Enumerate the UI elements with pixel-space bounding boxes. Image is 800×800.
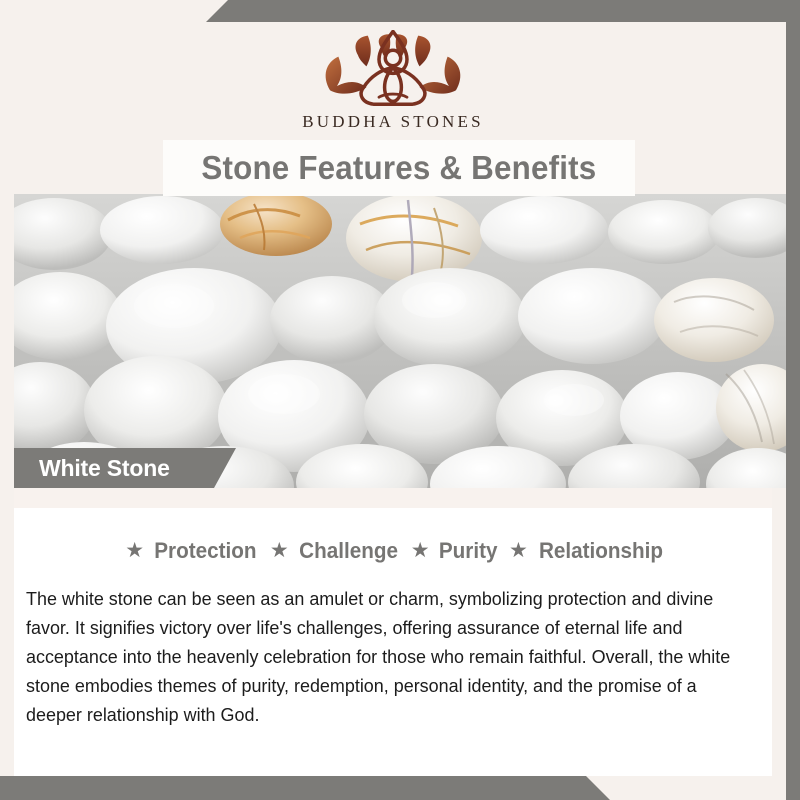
- description-paragraph: The white stone can be seen as an amulet…: [26, 584, 740, 729]
- photo-caption-band: White Stone: [14, 448, 236, 488]
- lotus-meditation-icon: [309, 30, 477, 108]
- brand-name: BUDDHA STONES: [302, 112, 484, 132]
- frame-top-bar: [0, 0, 800, 22]
- frame-right-bar: [786, 0, 800, 800]
- feature-list: ★Protection★Challenge★Purity★Relationshi…: [14, 538, 772, 564]
- feature-item-protection: Protection: [154, 538, 256, 564]
- feature-item-relationship: Relationship: [539, 538, 663, 564]
- star-icon: ★: [411, 538, 430, 563]
- page-title: Stone Features & Benefits: [202, 149, 597, 187]
- description-card: ★Protection★Challenge★Purity★Relationshi…: [14, 488, 772, 776]
- frame-bottom-bar: [0, 776, 800, 800]
- title-banner: Stone Features & Benefits: [163, 140, 635, 196]
- content-canvas: BUDDHA STONES: [0, 22, 786, 776]
- star-icon: ★: [509, 538, 528, 563]
- feature-item-challenge: Challenge: [299, 538, 398, 564]
- feature-item-purity: Purity: [438, 538, 497, 564]
- card-top-strip: [14, 488, 772, 508]
- white-pebble-stones-photo: [14, 194, 786, 488]
- photo-caption-label: White Stone: [14, 455, 170, 482]
- star-icon: ★: [270, 538, 289, 563]
- star-icon: ★: [125, 538, 144, 563]
- brand-header: BUDDHA STONES: [0, 22, 786, 150]
- infographic-page: BUDDHA STONES: [0, 0, 800, 800]
